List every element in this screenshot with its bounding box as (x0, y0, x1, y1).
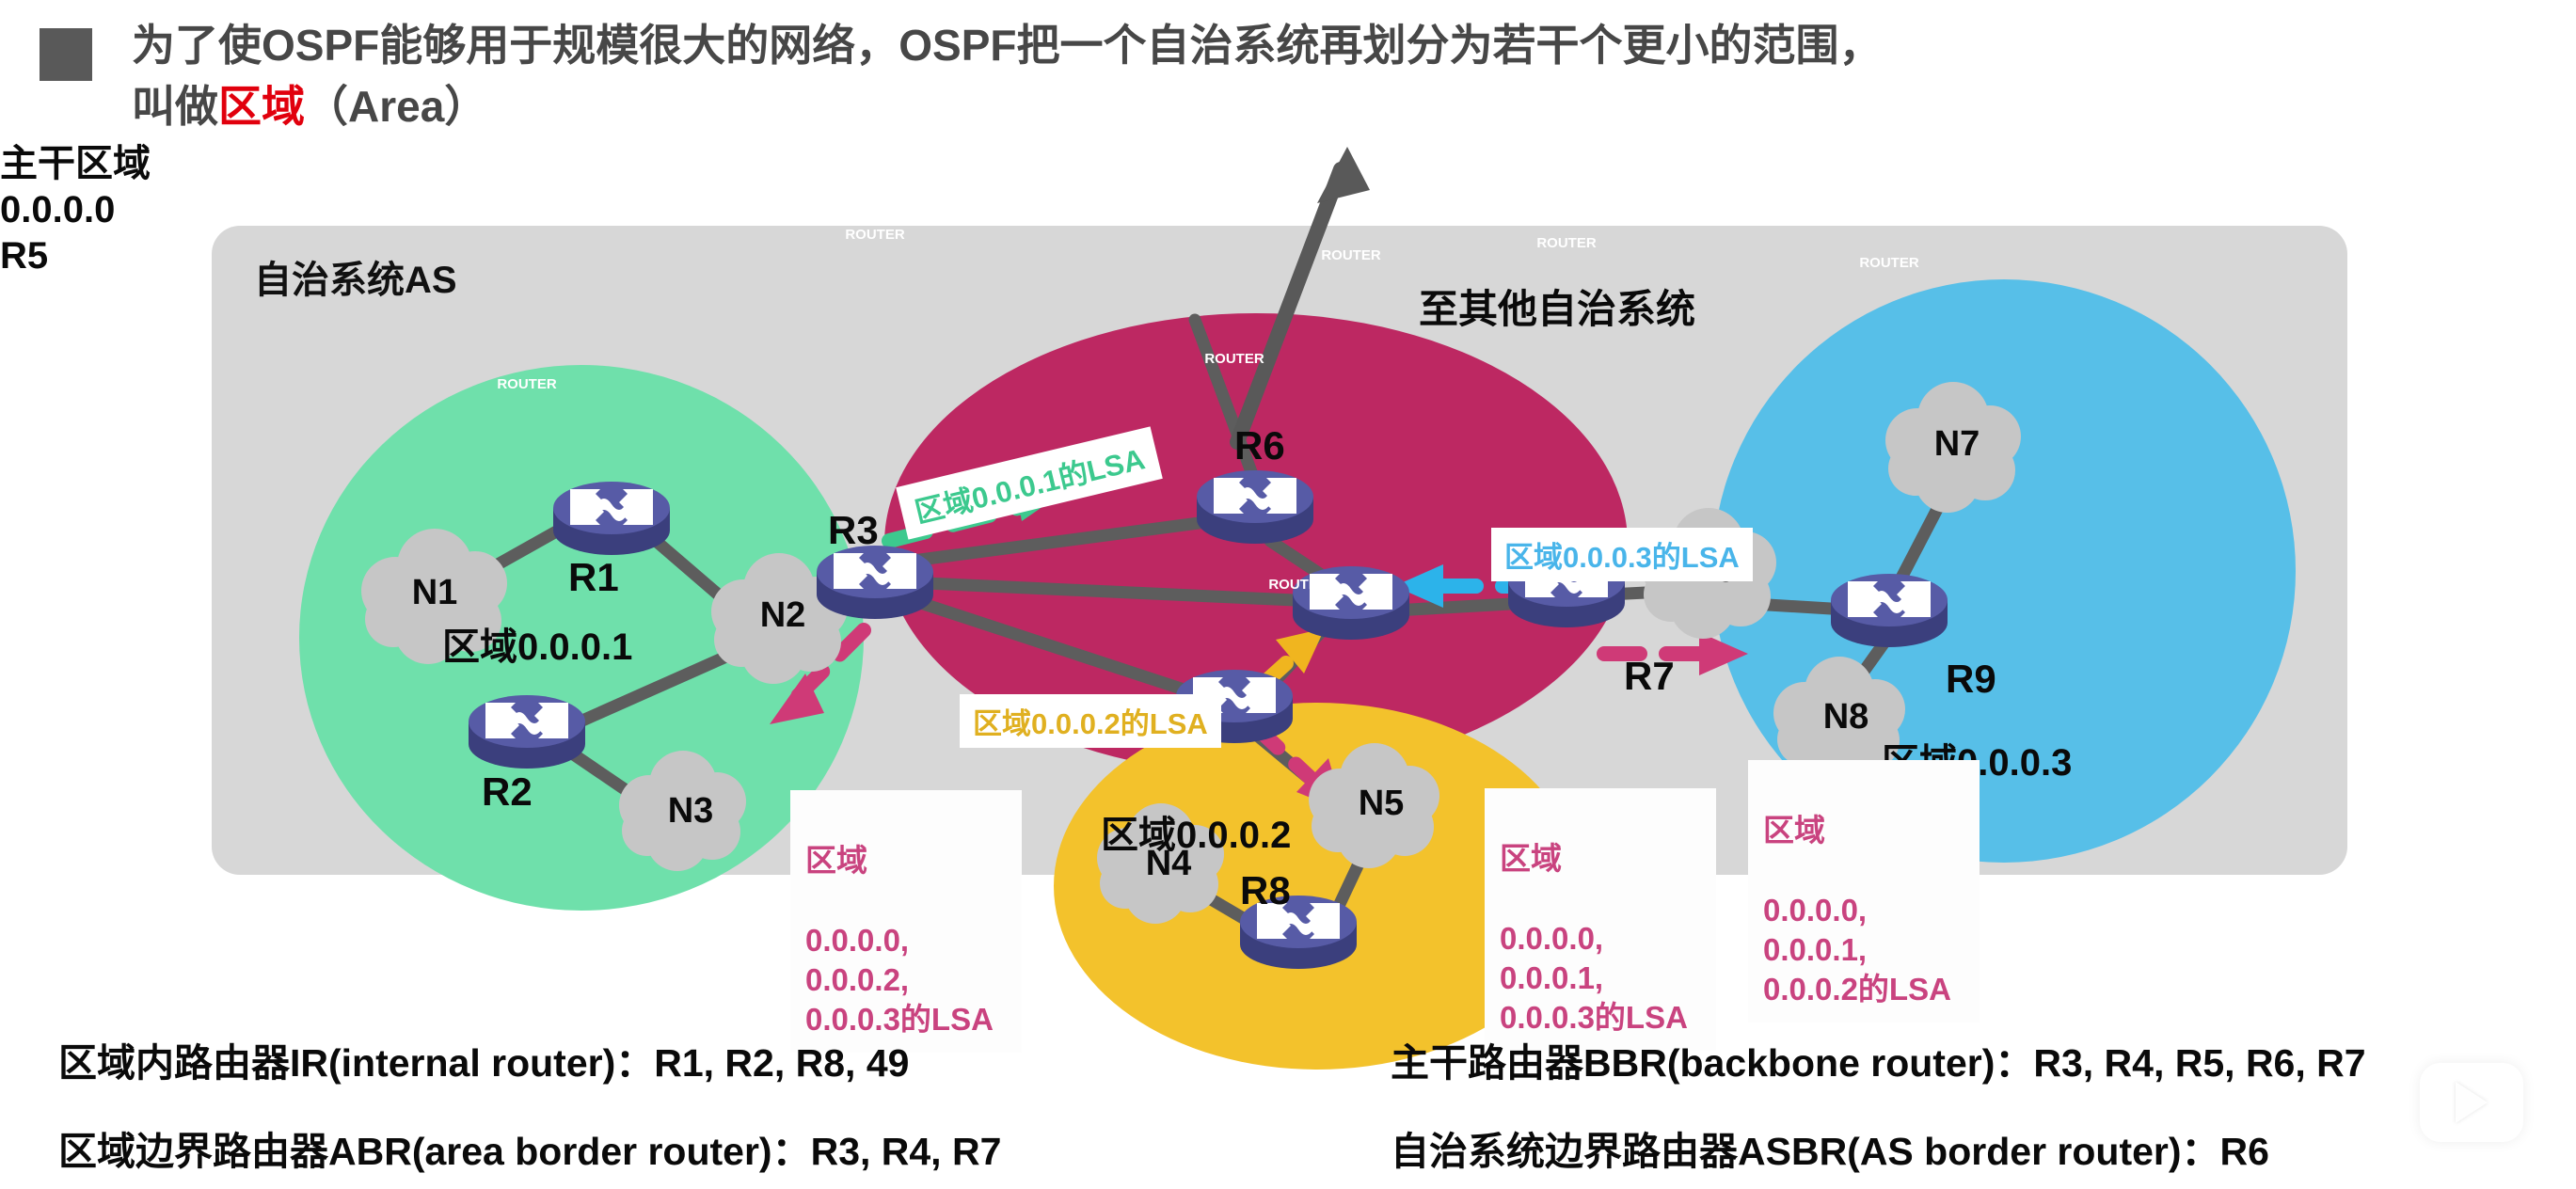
lsa-chip-area-0-0-0-3: 区域0.0.0.3的LSA (1491, 528, 1753, 581)
network-label-n7: N7 (1895, 393, 2019, 495)
router-icon-r9 (1831, 574, 1948, 647)
lsa-summary-title-3: 区域 (1763, 811, 1966, 850)
router-icon-r2 (469, 695, 585, 769)
network-label-n5: N5 (1319, 753, 1443, 854)
ospf-area-diagram: 自治系统AS (0, 141, 2576, 988)
router-label-r2: R2 (482, 769, 533, 815)
network-label-n2: N2 (721, 564, 845, 666)
footer-area-border-router: 区域边界路由器ABR(area border router)：R3, R4, R… (58, 1119, 1001, 1176)
network-node-n3: N3 (628, 760, 753, 862)
lsa-summary-box-area1: 区域 0.0.0.0, 0.0.0.2, 0.0.0.3的LSA (790, 790, 1022, 1053)
svg-text:ROUTER: ROUTER (1859, 255, 1919, 271)
page-title: 为了使OSPF能够用于规模很大的网络，OSPF把一个自治系统再划分为若干个更小的… (132, 15, 2390, 138)
area-label-0-0-0-2: 区域0.0.0.2 (1101, 804, 1291, 859)
network-node-n2: N2 (721, 564, 845, 666)
slide-footer: 区域内路由器IR(internal router)：R1, R2, R8, 49… (0, 1016, 2576, 1189)
svg-text:ROUTER: ROUTER (497, 376, 557, 392)
external-as-arrow (1237, 147, 1370, 442)
play-icon (2456, 1082, 2488, 1123)
play-button-watermark[interactable] (2420, 1063, 2523, 1142)
router-label-r9: R9 (1946, 657, 1996, 702)
router-label-r1: R1 (568, 555, 619, 600)
router-icon-r1 (553, 482, 670, 555)
external-as-label: 至其他自治系统 (1419, 277, 1695, 335)
bullet-square-icon (40, 28, 92, 81)
footer-as-border-router: 自治系统边界路由器ASBR(AS border router)：R6 (1391, 1119, 2269, 1176)
title-line-2-suffix: （Area） (305, 82, 487, 131)
router-icon-r6 (1197, 470, 1313, 544)
router-node-r9: R9 (0, 141, 111, 228)
lsa-summary-box-area2: 区域 0.0.0.0, 0.0.0.1, 0.0.0.3的LSA (1485, 788, 1716, 1051)
svg-text:ROUTER: ROUTER (1321, 247, 1381, 263)
lsa-chip-area-0-0-0-2: 区域0.0.0.2的LSA (960, 694, 1221, 748)
svg-text:ROUTER: ROUTER (1204, 351, 1264, 367)
footer-internal-router: 区域内路由器IR(internal router)：R1, R2, R8, 49 (58, 1031, 909, 1087)
network-label-n3: N3 (628, 760, 753, 862)
router-label-r7: R7 (1624, 654, 1675, 699)
svg-text:ROUTER: ROUTER (845, 227, 905, 243)
lsa-summary-title-1: 区域 (805, 841, 1009, 880)
svg-text:ROUTER: ROUTER (1225, 151, 1285, 167)
title-line-2-prefix: 叫做 (132, 82, 218, 131)
router-label-r8: R8 (1240, 868, 1291, 913)
network-node-n5: N5 (1319, 753, 1443, 854)
area-label-0-0-0-1: 区域0.0.0.1 (442, 616, 632, 671)
title-line-1: 为了使OSPF能够用于规模很大的网络，OSPF把一个自治系统再划分为若干个更小的… (132, 21, 1882, 70)
svg-text:ROUTER: ROUTER (1536, 235, 1597, 251)
network-node-n7: N7 (1895, 393, 2019, 495)
svg-text:ROUTER: ROUTER (581, 163, 642, 179)
lsa-summary-title-2: 区域 (1500, 839, 1703, 879)
router-label-r6: R6 (1234, 423, 1285, 468)
router-label-r3: R3 (828, 508, 879, 553)
footer-backbone-router: 主干路由器BBR(backbone router)：R3, R4, R5, R6… (1391, 1031, 2366, 1087)
lsa-summary-body-3: 0.0.0.0, 0.0.0.1, 0.0.0.2的LSA (1763, 893, 1951, 1007)
svg-text:ROUTER: ROUTER (1268, 577, 1328, 593)
title-highlight-area: 区域 (218, 82, 305, 131)
lsa-summary-box-area3: 区域 0.0.0.0, 0.0.0.1, 0.0.0.2的LSA (1748, 760, 1980, 1023)
